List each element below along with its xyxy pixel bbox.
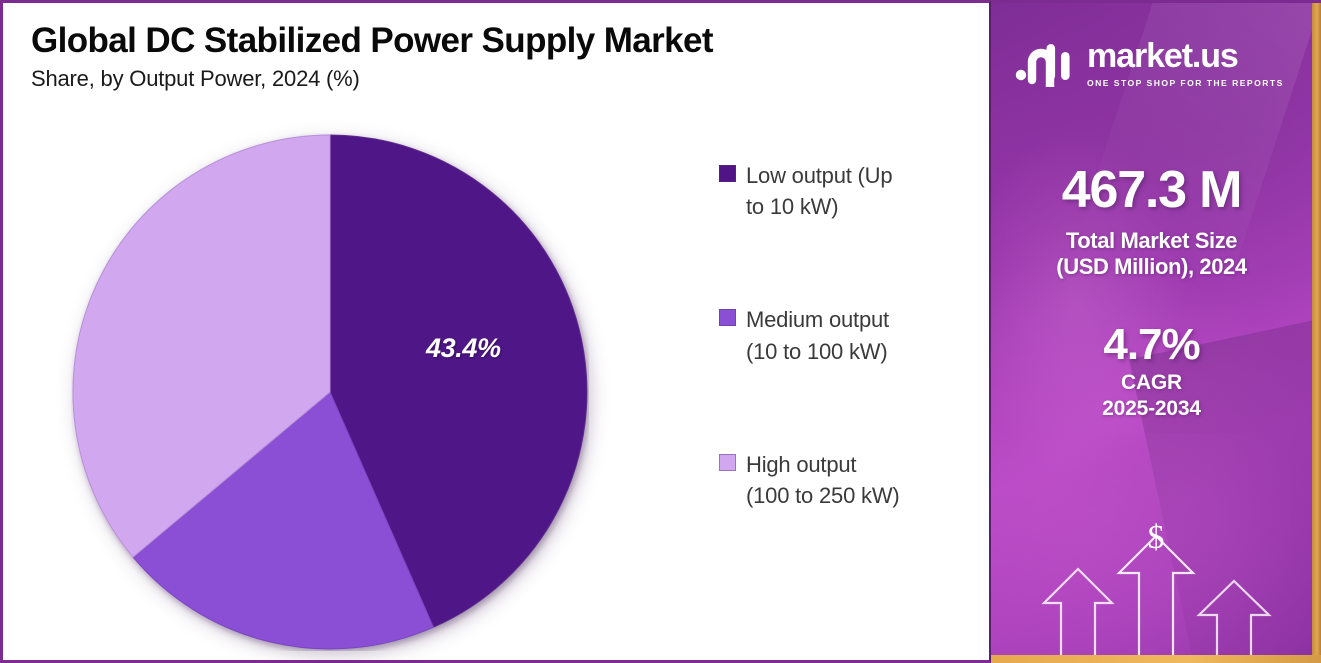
legend-label-high-output-line1: High output	[746, 452, 856, 477]
title-block: Global DC Stabilized Power Supply Market…	[31, 21, 961, 92]
legend-item-high-output[interactable]: High output (100 to 250 kW)	[719, 449, 969, 511]
legend-label-low-output-line2: to 10 kW)	[746, 194, 838, 219]
legend-label-high-output: High output (100 to 250 kW)	[746, 449, 900, 511]
dollar-sign-icon: $	[1031, 521, 1281, 555]
market-size-caption: Total Market Size (USD Million), 2024	[991, 228, 1312, 281]
legend-swatch-low-output	[719, 165, 736, 182]
cagr-caption: CAGR 2025-2034	[991, 370, 1312, 421]
legend-label-medium-output-line2: (10 to 100 kW)	[746, 339, 887, 364]
market-size-value: 467.3 M	[991, 163, 1312, 218]
cagr-caption-period: 2025-2034	[1102, 397, 1201, 420]
page-subtitle: Share, by Output Power, 2024 (%)	[31, 66, 961, 92]
stats-block: 467.3 M Total Market Size (USD Million),…	[991, 163, 1312, 422]
legend-swatch-medium-output	[719, 309, 736, 326]
legend-label-low-output: Low output (Up to 10 kW)	[746, 160, 892, 222]
accent-strip-right	[1312, 3, 1321, 663]
legend-label-low-output-line1: Low output (Up	[746, 163, 892, 188]
brand-logo-text: market.us ONE STOP SHOP FOR THE REPORTS	[1087, 37, 1299, 91]
market-size-caption-line2: (USD Million), 2024	[1056, 254, 1246, 279]
legend-item-low-output[interactable]: Low output (Up to 10 kW)	[719, 160, 969, 222]
brand-stats-panel: market.us ONE STOP SHOP FOR THE REPORTS …	[991, 0, 1321, 663]
market-size-caption-line1: Total Market Size	[1066, 228, 1237, 253]
legend-label-medium-output: Medium output (10 to 100 kW)	[746, 304, 889, 366]
brand-logo[interactable]: market.us ONE STOP SHOP FOR THE REPORTS	[1013, 35, 1299, 92]
legend: Low output (Up to 10 kW) Medium output (…	[719, 160, 969, 593]
cagr-value: 4.7%	[991, 320, 1312, 370]
legend-label-high-output-line2: (100 to 250 kW)	[746, 483, 900, 508]
up-arrow-left-icon	[1044, 569, 1112, 663]
growth-arrows-art: $	[1031, 503, 1281, 663]
pie-data-label-low-output: 43.4%	[426, 333, 501, 364]
pie-chart: 43.4%	[71, 133, 589, 651]
legend-swatch-high-output	[719, 454, 736, 471]
infographic-root: Global DC Stabilized Power Supply Market…	[0, 0, 1321, 663]
legend-item-medium-output[interactable]: Medium output (10 to 100 kW)	[719, 304, 969, 366]
market-us-logo-icon	[1013, 35, 1075, 92]
page-title: Global DC Stabilized Power Supply Market	[31, 21, 961, 60]
up-arrow-right-icon	[1199, 581, 1269, 663]
accent-strip-bottom	[991, 655, 1321, 663]
legend-label-medium-output-line1: Medium output	[746, 307, 889, 332]
brand-wordmark: market.us	[1087, 37, 1238, 75]
cagr-block: 4.7% CAGR 2025-2034	[991, 320, 1312, 421]
brand-tagline: ONE STOP SHOP FOR THE REPORTS	[1087, 78, 1284, 88]
chart-panel: Global DC Stabilized Power Supply Market…	[0, 0, 991, 663]
cagr-caption-label: CAGR	[1121, 371, 1182, 394]
pie-svg	[71, 133, 589, 651]
